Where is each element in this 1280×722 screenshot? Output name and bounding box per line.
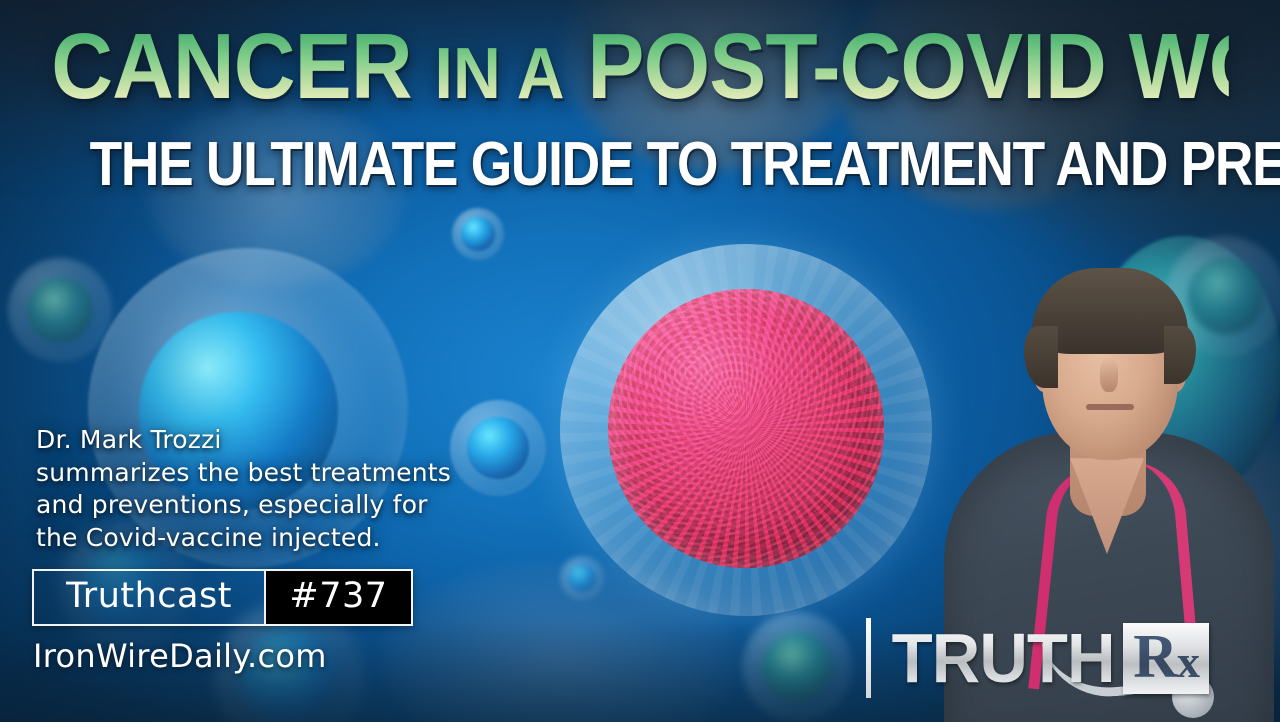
description-blurb: Dr. Mark Trozzi summarizes the best trea… (36, 424, 451, 554)
title-part-1: CANCER (51, 14, 411, 118)
logo-divider-bar (866, 618, 871, 698)
blurb-line-1: Dr. Mark Trozzi (36, 424, 451, 457)
subtitle: THE ULTIMATE GUIDE TO TREATMENT AND PREV… (90, 134, 1191, 196)
mouth (1086, 404, 1134, 410)
blurb-line-2: summarizes the best treatments (36, 457, 451, 490)
website-url: IronWireDaily.com (33, 637, 327, 675)
episode-number: #737 (264, 571, 411, 624)
blurb-line-4: the Covid-vaccine injected. (36, 522, 451, 555)
title-part-small: IN A (435, 34, 565, 114)
logo-rx-block: Rx (1123, 623, 1209, 694)
blurb-line-3: and preventions, especially for (36, 489, 451, 522)
truthcast-badge: Truthcast #737 (32, 569, 413, 626)
title-part-2: POST-COVID WORLD (587, 14, 1280, 118)
main-title: CANCER IN A POST-COVID WORLD (51, 22, 1229, 111)
hair (1032, 268, 1188, 354)
nose (1100, 358, 1118, 392)
thumbnail-canvas: CANCER IN A POST-COVID WORLD THE ULTIMAT… (0, 0, 1280, 722)
truthcast-label: Truthcast (34, 571, 264, 624)
logo-rx-text: Rx (1133, 626, 1199, 688)
logo-word-truth: TRUTH (892, 623, 1117, 693)
truthrx-logo: TRUTH Rx (866, 618, 1209, 698)
